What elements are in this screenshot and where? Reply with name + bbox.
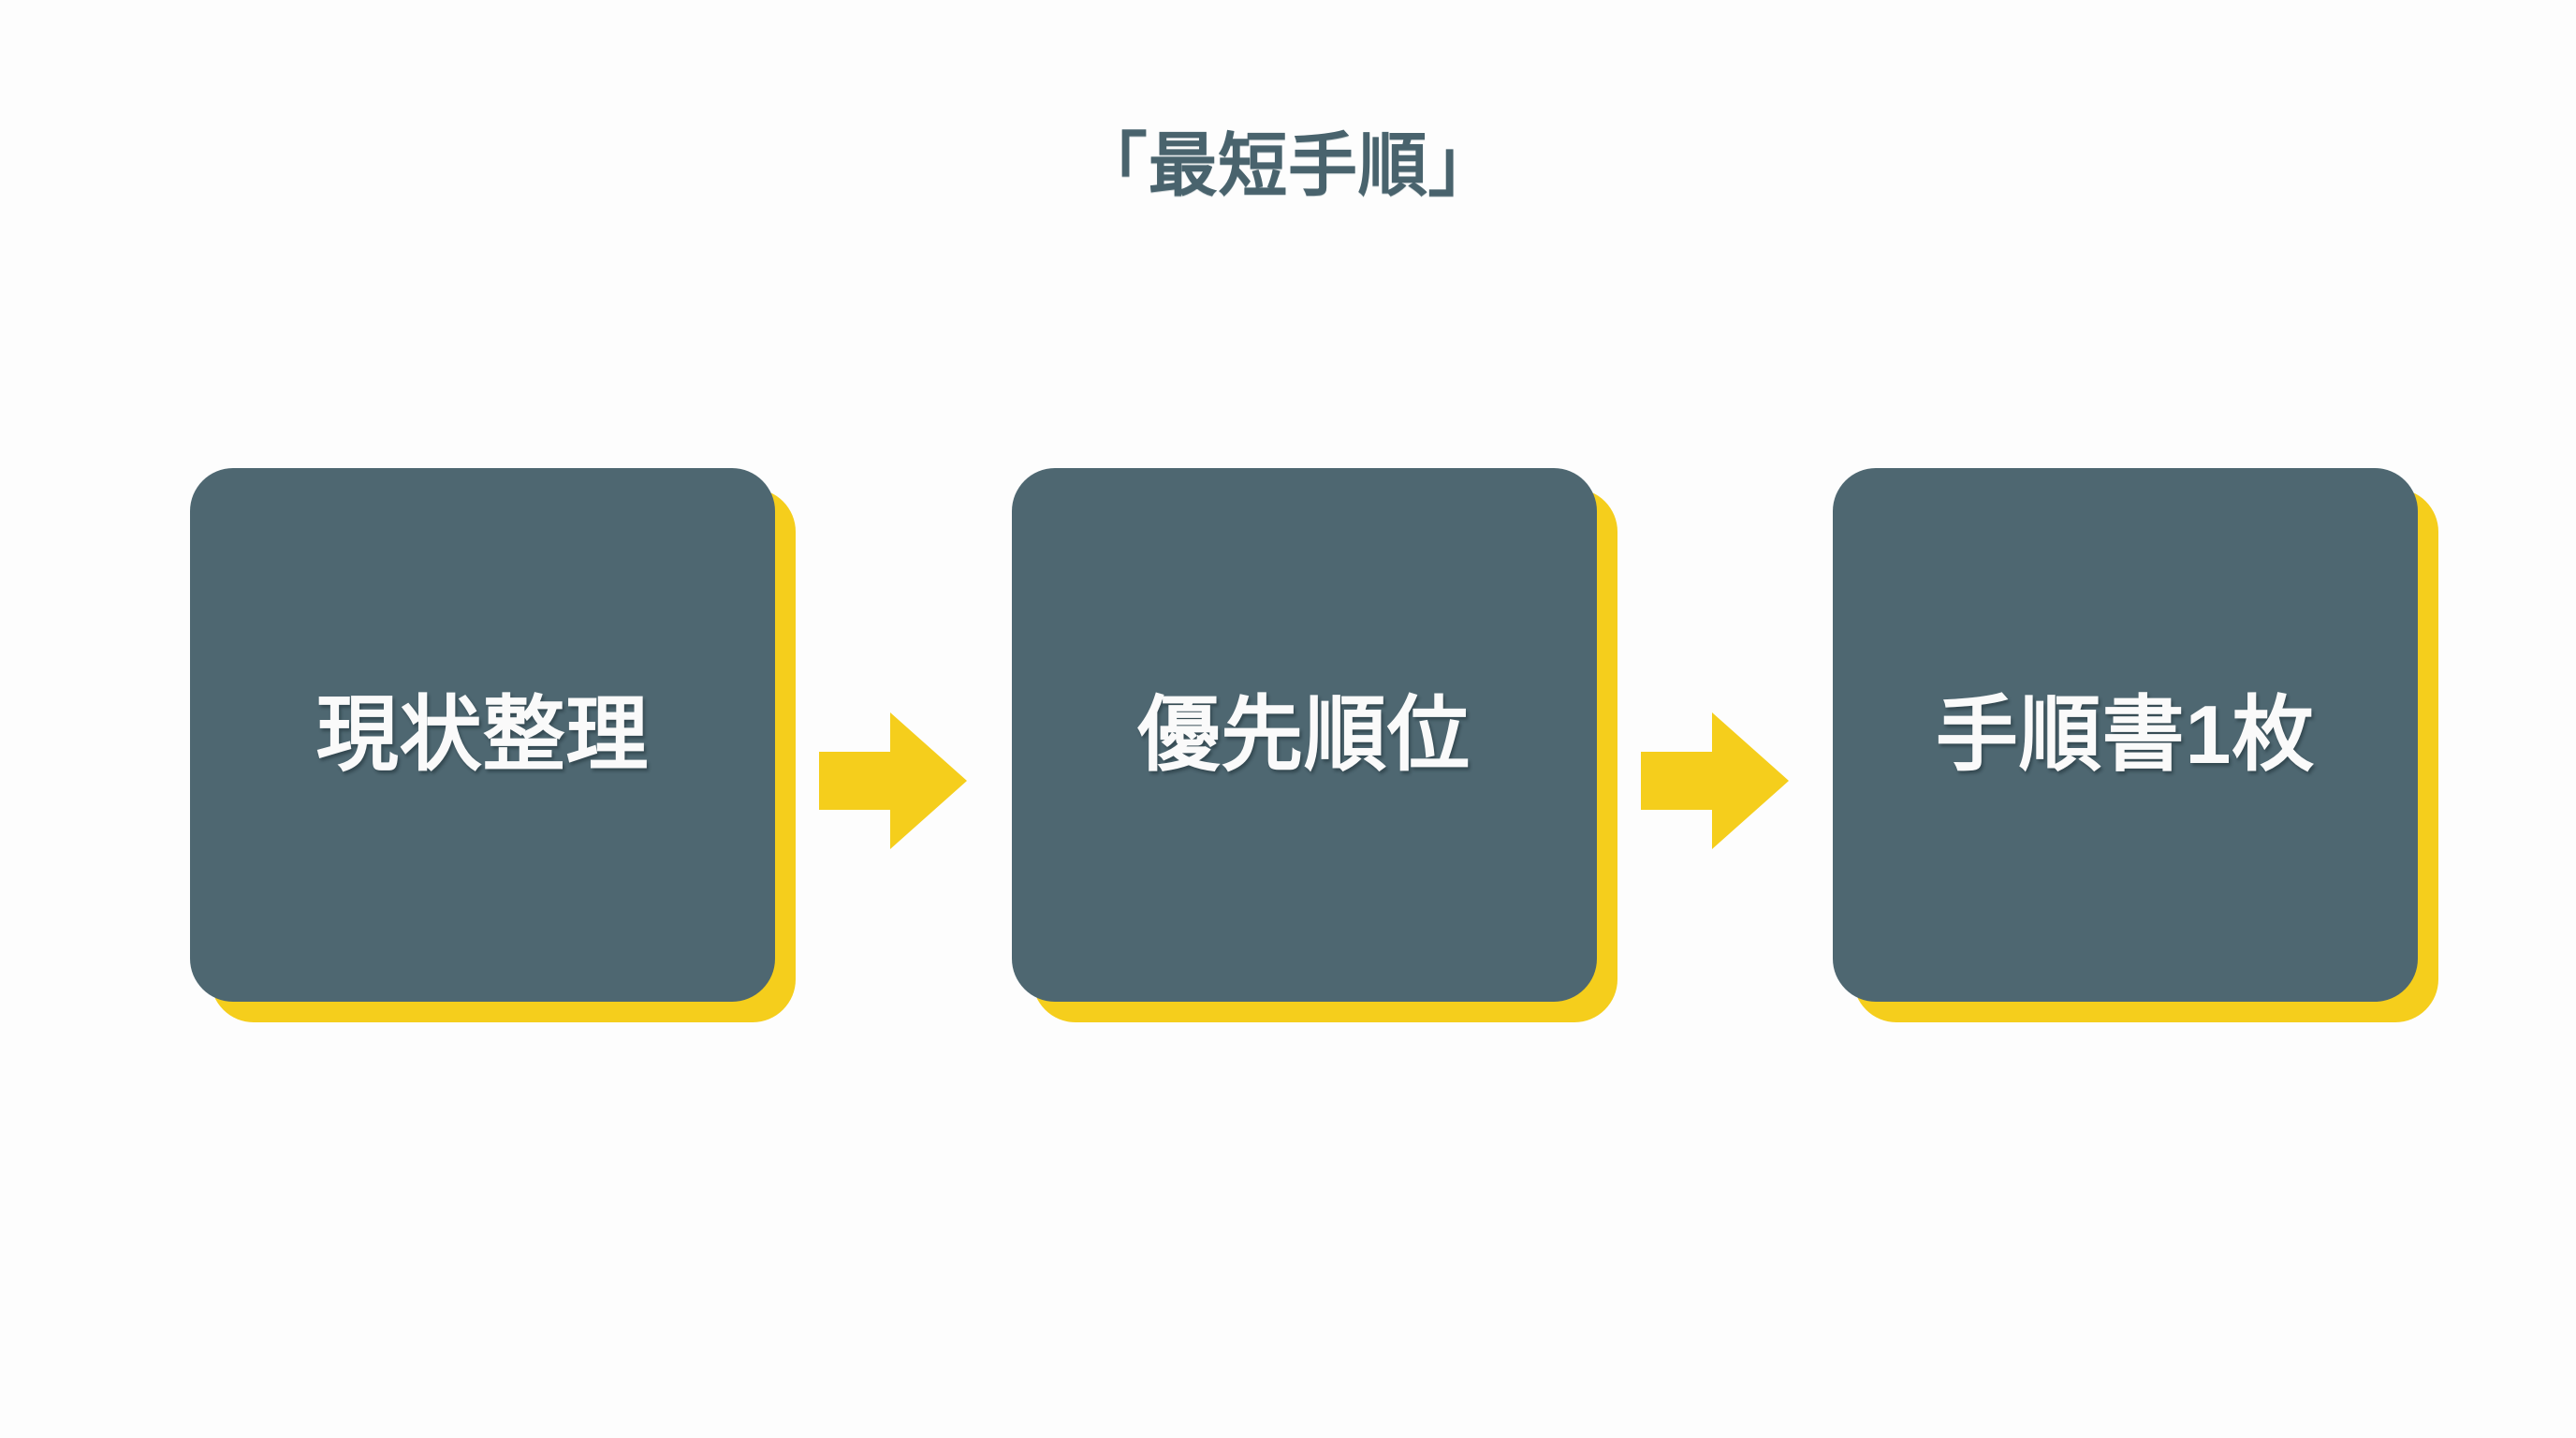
process-flow-diagram: 現状整理 優先順位 手順書1枚 bbox=[190, 468, 2418, 1030]
flow-step-card-3[interactable]: 手順書1枚 bbox=[1833, 468, 2418, 1002]
slide-canvas: 「最短手順」 現状整理 優先順位 bbox=[0, 0, 2576, 1438]
flow-step-label-3: 手順書1枚 bbox=[1936, 690, 2315, 781]
flow-step-label-2: 優先順位 bbox=[1137, 690, 1471, 781]
flow-step-card-1[interactable]: 現状整理 bbox=[190, 468, 775, 1002]
card-face-2: 優先順位 bbox=[1012, 468, 1597, 1002]
arrow-right-icon bbox=[1641, 712, 1789, 849]
card-face-3: 手順書1枚 bbox=[1833, 468, 2418, 1002]
flow-step-label-1: 現状整理 bbox=[316, 690, 650, 781]
card-face-1: 現状整理 bbox=[190, 468, 775, 1002]
flow-step-card-2[interactable]: 優先順位 bbox=[1012, 468, 1597, 1002]
page-title-container: 「最短手順」 bbox=[0, 131, 2576, 200]
page-title: 「最短手順」 bbox=[1078, 131, 1498, 200]
arrow-right-icon bbox=[819, 712, 967, 849]
